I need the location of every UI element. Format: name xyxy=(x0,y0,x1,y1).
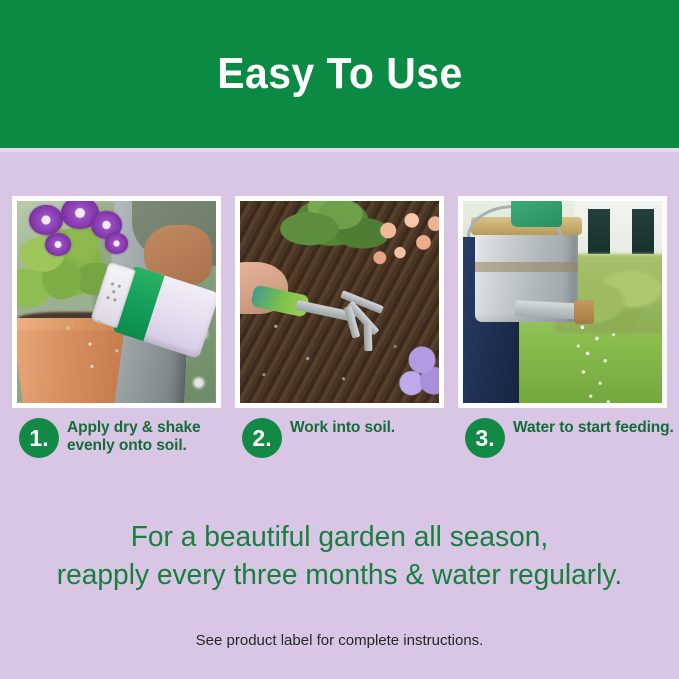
step-1-label: Apply dry & shake evenly onto soil. xyxy=(67,417,229,455)
apply-product-photo xyxy=(12,196,221,408)
steps-row: 1. Apply dry & shake evenly onto soil. 2… xyxy=(0,417,679,503)
work-into-soil-photo xyxy=(235,196,444,408)
window-shutter xyxy=(588,209,610,253)
tagline-line-2: reapply every three months & water regul… xyxy=(10,556,669,594)
step-2-label: Work into soil. xyxy=(290,417,395,437)
photo-row xyxy=(0,196,679,408)
header-divider xyxy=(0,148,679,152)
easy-to-use-infographic: Easy To Use xyxy=(0,0,679,679)
cultivator-tine xyxy=(364,325,373,351)
step-3-label: Water to start feeding. xyxy=(513,417,674,437)
green-glove xyxy=(511,201,563,227)
tagline: For a beautiful garden all season, reapp… xyxy=(10,518,669,595)
purple-flower xyxy=(45,233,71,255)
footer-note: See product label for complete instructi… xyxy=(0,632,679,649)
pouring-water xyxy=(572,318,624,403)
watering-can-band xyxy=(475,262,578,272)
step-2-number: 2. xyxy=(242,418,282,458)
step-3-number: 3. xyxy=(465,418,505,458)
page-title: Easy To Use xyxy=(217,52,462,96)
water-image xyxy=(463,201,662,403)
step-2: 2. Work into soil. xyxy=(242,417,452,458)
step-3: 3. Water to start feeding. xyxy=(465,417,675,458)
water-photo xyxy=(458,196,667,408)
header-banner: Easy To Use xyxy=(0,0,679,148)
purple-flower xyxy=(105,233,129,253)
tagline-line-1: For a beautiful garden all season, xyxy=(10,518,669,556)
window-shutter xyxy=(632,209,654,253)
step-1: 1. Apply dry & shake evenly onto soil. xyxy=(19,417,229,458)
violet-flowers xyxy=(399,338,439,399)
work-into-soil-image xyxy=(240,201,439,403)
peach-flowers xyxy=(363,205,439,290)
step-1-number: 1. xyxy=(19,418,59,458)
purple-flower xyxy=(29,205,63,235)
apply-product-image xyxy=(17,201,216,403)
